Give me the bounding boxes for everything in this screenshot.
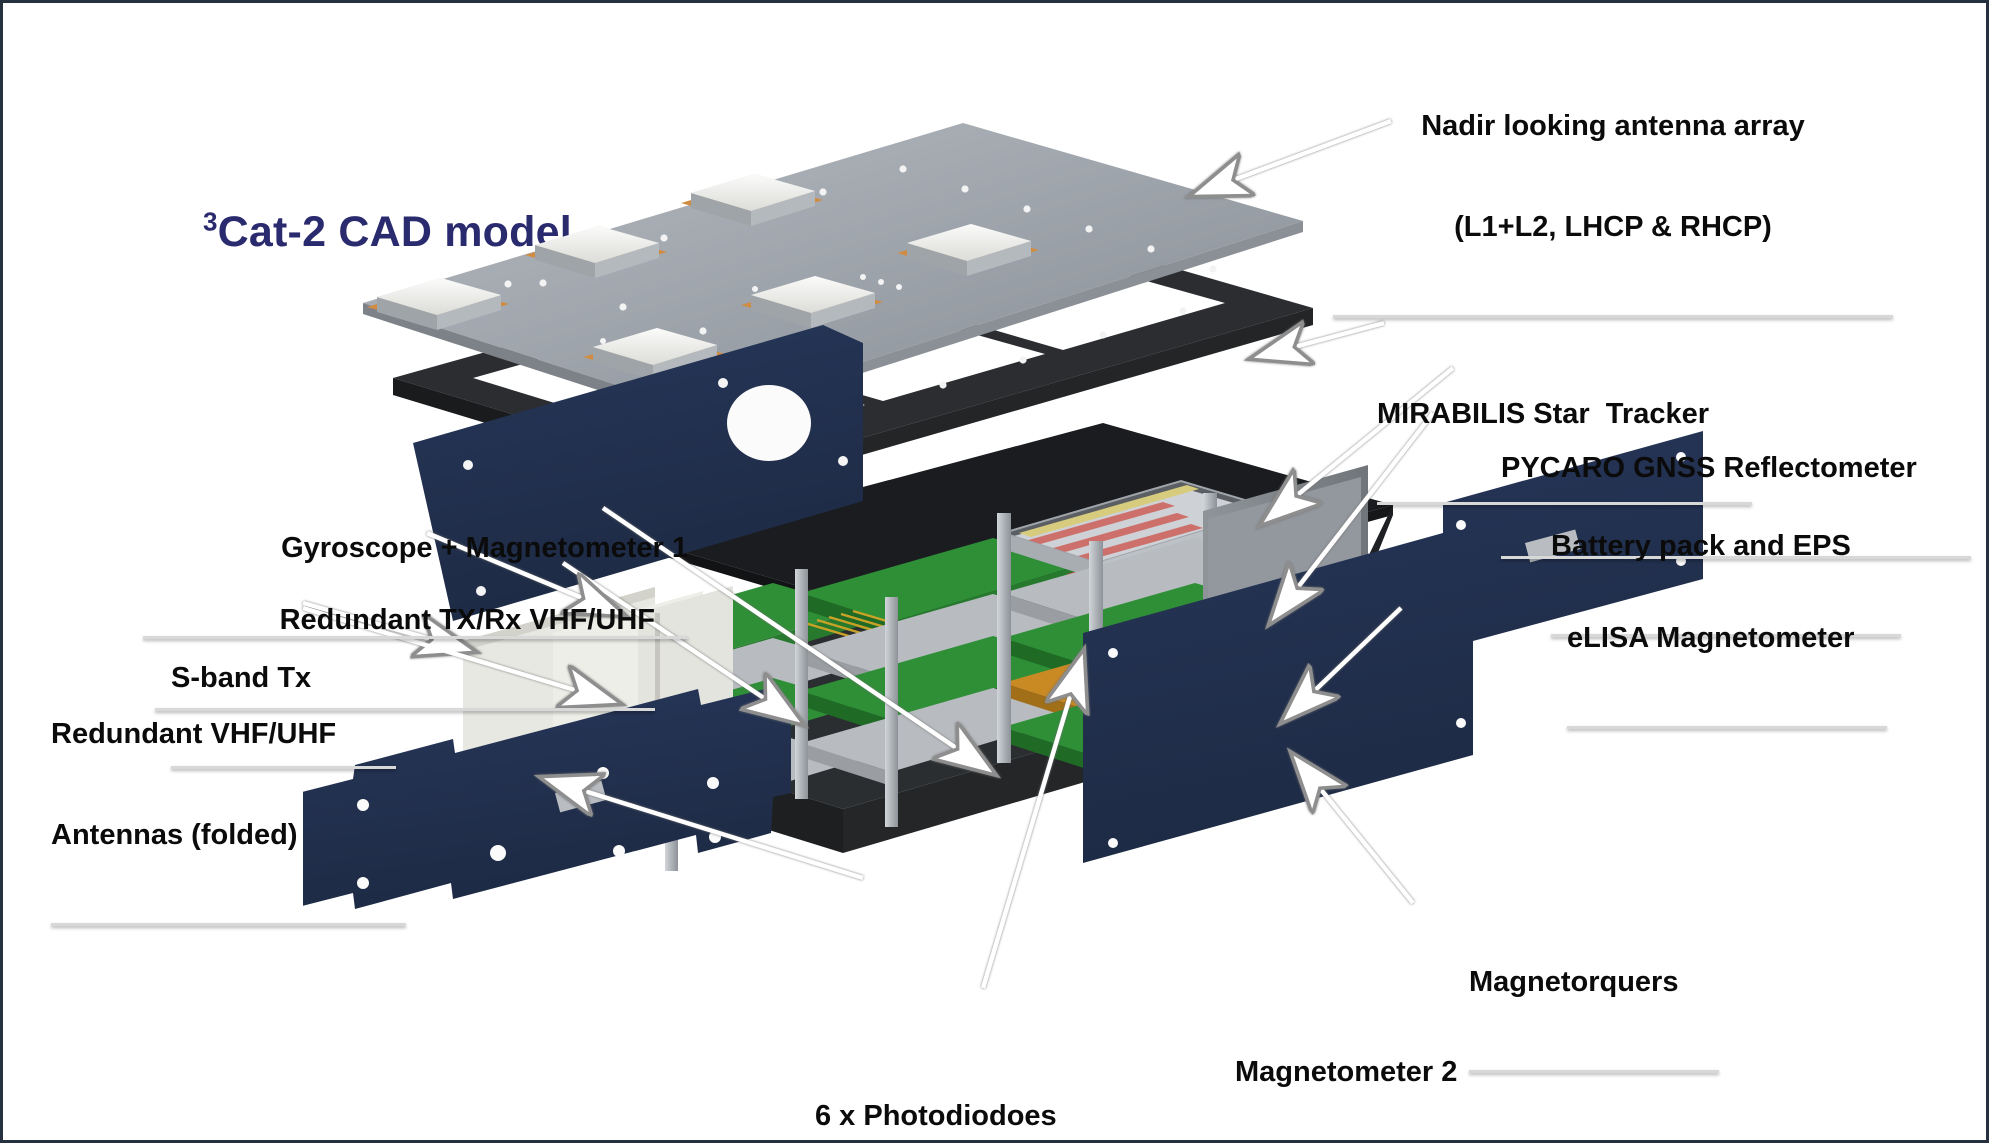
callout-photodiodes: 6 x Photodiodoes <box>815 1033 1140 1143</box>
patch-antenna <box>681 174 823 226</box>
pcb-stack-right <box>1003 538 1285 771</box>
title-superscript: 3 <box>203 207 218 237</box>
callout-rule <box>1333 315 1893 318</box>
slide-canvas: 3Cat-2 CAD model <box>0 0 1989 1143</box>
callout-redundant-vhf-uhf-antennas: Redundant VHF/UHF Antennas (folded) <box>51 651 406 997</box>
patch-antenna <box>367 278 509 330</box>
callout-line: 6 x Photodiodoes <box>815 1100 1140 1134</box>
callout-line: Magnetometer 2 <box>1235 1056 1535 1090</box>
callout-line: Nadir looking antenna array <box>1333 110 1893 144</box>
title-main: Cat-2 CAD model <box>218 208 572 256</box>
callout-line: (L1+L2, LHCP & RHCP) <box>1333 211 1893 245</box>
battery-cells <box>1025 502 1231 589</box>
callout-rule <box>51 923 406 926</box>
callout-rule <box>1567 726 1887 729</box>
top-deck-plate <box>653 423 1393 639</box>
pcb-stack-middle <box>801 538 1083 786</box>
page-title: 3Cat-2 CAD model <box>203 208 572 257</box>
bus-side-panel-right <box>1203 465 1368 721</box>
patch-antenna <box>897 224 1039 276</box>
callout-line: eLISA Magnetometer <box>1567 622 1887 656</box>
battery-pack <box>1003 481 1275 595</box>
callout-line: Antennas (folded) <box>51 819 406 853</box>
callout-line: Redundant VHF/UHF <box>51 718 406 752</box>
callout-magnetometer-2: Magnetometer 2 <box>1235 989 1535 1143</box>
patch-antenna <box>741 276 883 328</box>
patch-antenna <box>583 328 725 380</box>
magnetorquer-strip <box>555 781 607 813</box>
nadir-antenna-plate <box>363 123 1303 424</box>
callout-elisa-magnetometer: eLISA Magnetometer <box>1567 555 1887 800</box>
